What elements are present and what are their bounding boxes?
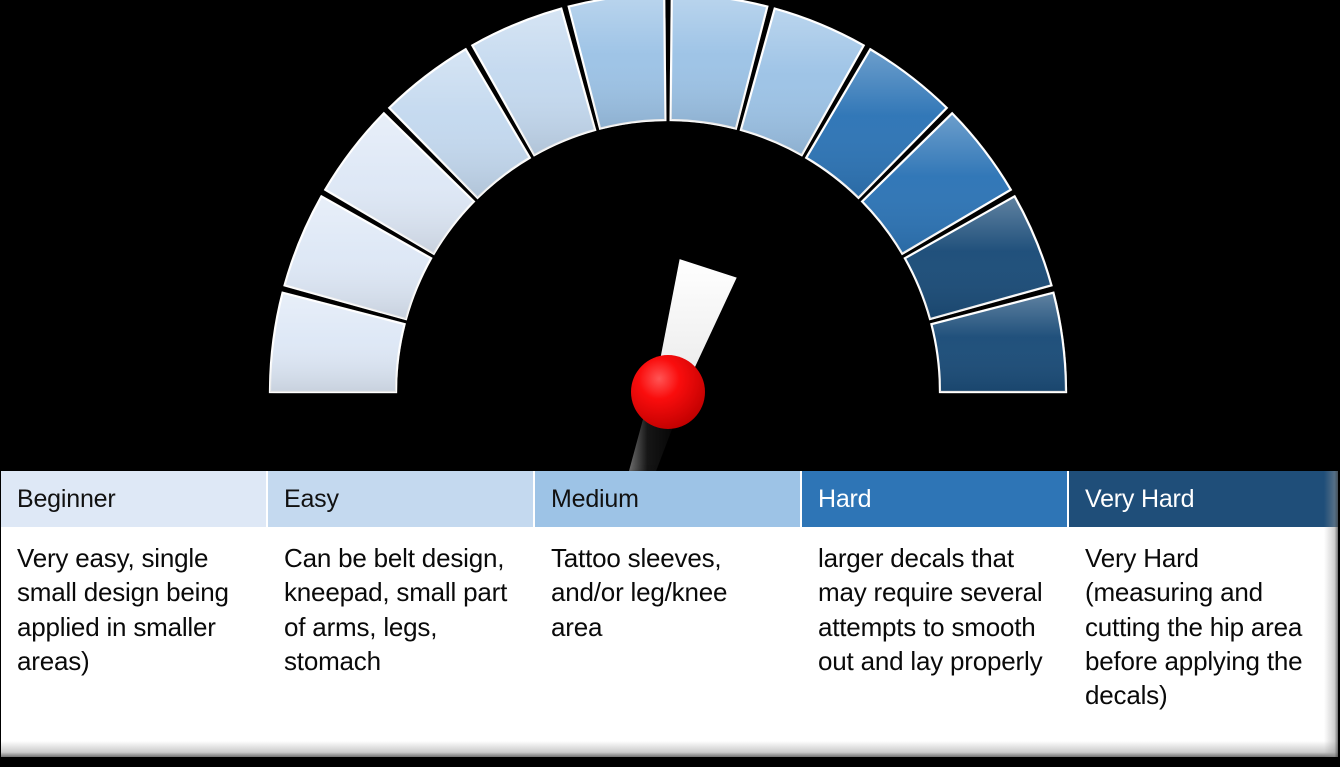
- table-header-row: Beginner Easy Medium Hard Very Hard: [1, 471, 1338, 527]
- table-cell-very-hard: Very Hard (measuring and cutting the hip…: [1069, 527, 1338, 757]
- table-body-row: Very easy, single small design being app…: [1, 527, 1338, 757]
- gauge-hub[interactable]: [631, 355, 705, 429]
- table-cell-easy: Can be belt design, kneepad, small part …: [268, 527, 535, 757]
- table-cell-hard: larger decals that may require several a…: [802, 527, 1069, 757]
- table-header-beginner[interactable]: Beginner: [1, 471, 268, 527]
- gauge-svg: [0, 0, 1340, 480]
- table-cell-medium: Tattoo sleeves, and/or leg/knee area: [535, 527, 802, 757]
- table-header-very-hard[interactable]: Very Hard: [1069, 471, 1338, 527]
- slide-canvas: Beginner Easy Medium Hard Very Hard Very…: [0, 0, 1340, 767]
- table-header-hard[interactable]: Hard: [802, 471, 1069, 527]
- difficulty-legend-table: Beginner Easy Medium Hard Very Hard Very…: [1, 471, 1338, 757]
- table-header-easy[interactable]: Easy: [268, 471, 535, 527]
- gauge-chart: [0, 0, 1340, 480]
- table-header-medium[interactable]: Medium: [535, 471, 802, 527]
- table-cell-beginner: Very easy, single small design being app…: [1, 527, 268, 757]
